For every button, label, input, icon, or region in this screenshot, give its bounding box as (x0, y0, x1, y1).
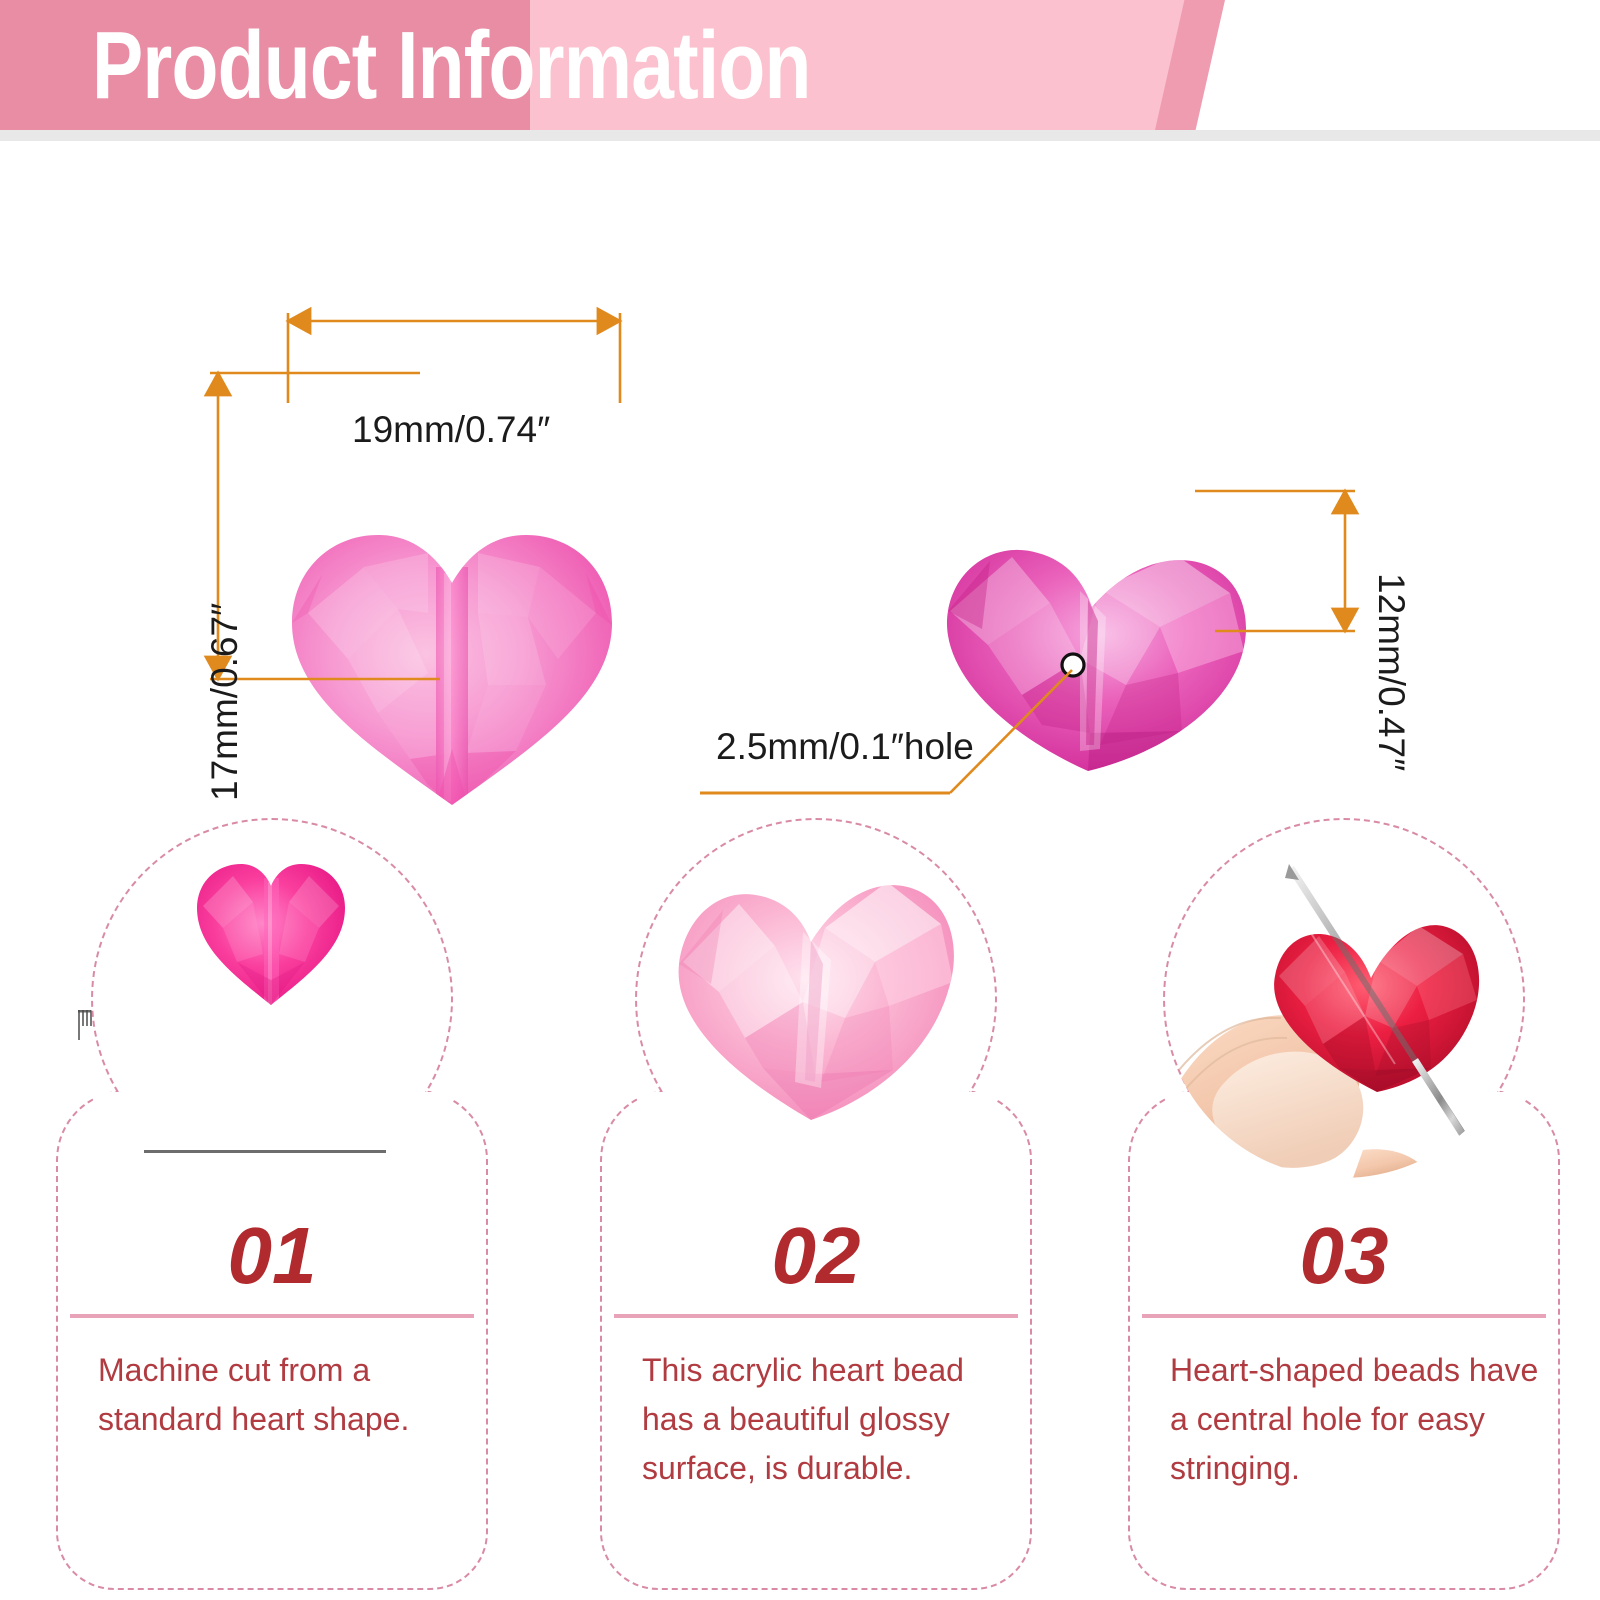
card-divider-03 (1142, 1314, 1546, 1318)
card-baseline-rule (144, 1150, 386, 1153)
dimension-hole-label: 2.5mm/0.1″hole (716, 726, 974, 768)
card-number-03: 03 (1128, 1216, 1560, 1296)
card-art-ruler-bead (91, 820, 451, 1178)
dimension-height-label: 17mm/0.67″ (204, 603, 246, 801)
card-text-03: Heart-shaped beads have a central hole f… (1170, 1346, 1546, 1493)
dimension-depth-label: 12mm/0.47″ (1370, 573, 1412, 771)
card-divider-01 (70, 1314, 474, 1318)
card-art-glossy-heart (635, 820, 995, 1178)
feature-card-03: 03 Heart-shaped beads have a central hol… (1128, 818, 1560, 1600)
card-number-01: 01 (56, 1216, 488, 1296)
card-number-02: 02 (600, 1216, 1032, 1296)
feature-card-01: 1cm 2 3 4 5 6 7 01 Machine cut from a st… (56, 818, 488, 1600)
light-pink-heart-bead-icon (635, 820, 995, 1178)
card-text-01: Machine cut from a standard heart shape. (98, 1346, 474, 1444)
feature-cards: 1cm 2 3 4 5 6 7 01 Machine cut from a st… (0, 818, 1600, 1600)
card-text-02: This acrylic heart bead has a beautiful … (642, 1346, 1018, 1493)
fingers-holding-red-heart-bead-icon (1163, 820, 1523, 1178)
feature-card-02: 02 This acrylic heart bead has a beautif… (600, 818, 1032, 1600)
card-art-needle-stringing (1163, 820, 1523, 1178)
card-divider-02 (614, 1314, 1018, 1318)
page-header: Product Information (0, 0, 1600, 130)
header-divider (0, 130, 1600, 141)
dimension-diagram: 19mm/0.74″ 17mm/0.67″ 12mm/0.47″ 2.5mm/0… (0, 141, 1600, 821)
page-title: Product Information (92, 14, 811, 118)
small-heart-bead-icon (91, 820, 451, 1178)
dimension-width-label: 19mm/0.74″ (352, 409, 550, 451)
